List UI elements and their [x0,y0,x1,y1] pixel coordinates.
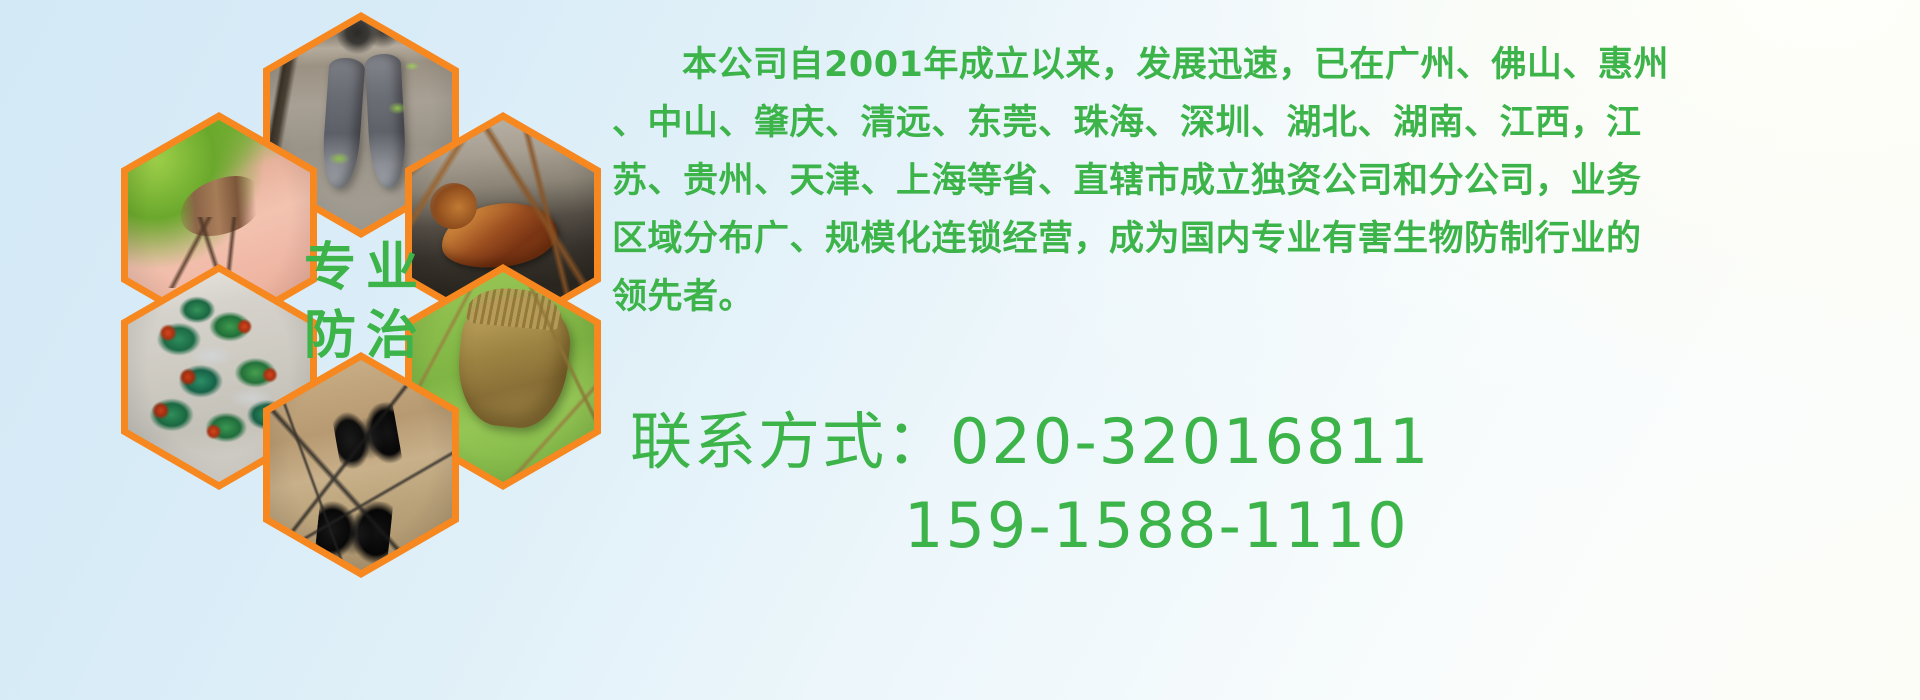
contact-landline-line[interactable]: 联系方式：020-32016811 [612,400,1912,484]
intro-line-1: 本公司自2001年成立以来，发展迅速，已在广州、佛山、惠州 [612,36,1912,94]
intro-line-4: 区域分布广、规模化连锁经营，成为国内专业有害生物防制行业的 [612,210,1912,268]
copy-column: 本公司自2001年成立以来，发展迅速，已在广州、佛山、惠州 、中山、肇庆、清远、… [612,0,1920,700]
intro-line-2: 、中山、肇庆、清远、东莞、珠海、深圳、湖北、湖南、江西，江 [612,94,1912,152]
intro-line-3: 苏、贵州、天津、上海等省、直辖市成立独资公司和分公司，业务 [612,152,1912,210]
contact-mobile-line[interactable]: 159-1588-1110 [612,484,1912,568]
pest-control-banner: 专业 防治 本公司自2001年成立以来，发展迅速，已在广州、佛山、惠州 、中山、… [0,0,1920,700]
hexagon-photo-cluster: 专业 防治 [95,0,595,552]
intro-line-5: 领先者。 [612,268,1912,326]
contact-block: 联系方式：020-32016811 159-1588-1110 [612,400,1912,568]
company-intro-paragraph: 本公司自2001年成立以来，发展迅速，已在广州、佛山、惠州 、中山、肇庆、清远、… [612,36,1912,326]
ants-image-detail [270,360,452,570]
